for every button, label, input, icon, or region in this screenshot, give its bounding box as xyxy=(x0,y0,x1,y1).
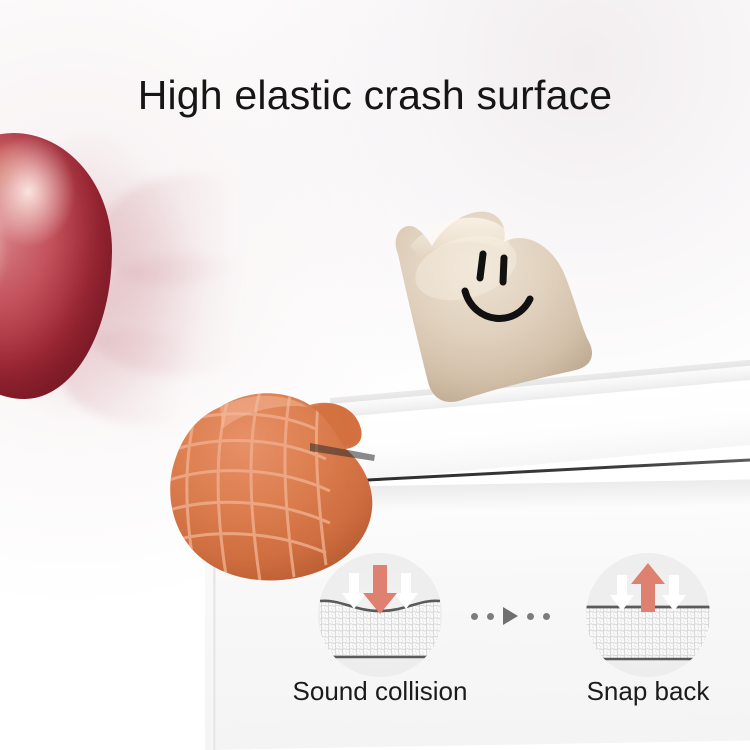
feature-caption-snap-back: Snap back xyxy=(560,676,736,707)
arrow-down-white-right xyxy=(662,575,686,611)
connector-dot xyxy=(543,613,550,620)
cream-smiley-guard xyxy=(370,196,600,408)
connector-dot xyxy=(527,613,534,620)
flow-connector xyxy=(452,605,568,627)
arrow-up-accent-center xyxy=(631,563,665,612)
arrow-down-accent-center xyxy=(363,565,397,614)
feature-icon-snap-back xyxy=(586,553,710,677)
page-title: High elastic crash surface xyxy=(0,72,750,119)
arrow-down-white-left xyxy=(610,575,634,611)
connector-dot xyxy=(487,613,494,620)
triangle-right-icon xyxy=(503,607,518,625)
feature-icon-sound-collision xyxy=(318,553,442,677)
apple-highlight xyxy=(0,166,37,334)
connector-dot xyxy=(471,613,478,620)
feature-caption-sound-collision: Sound collision xyxy=(280,676,480,707)
product-feature-banner: High elastic crash surface xyxy=(0,0,750,750)
